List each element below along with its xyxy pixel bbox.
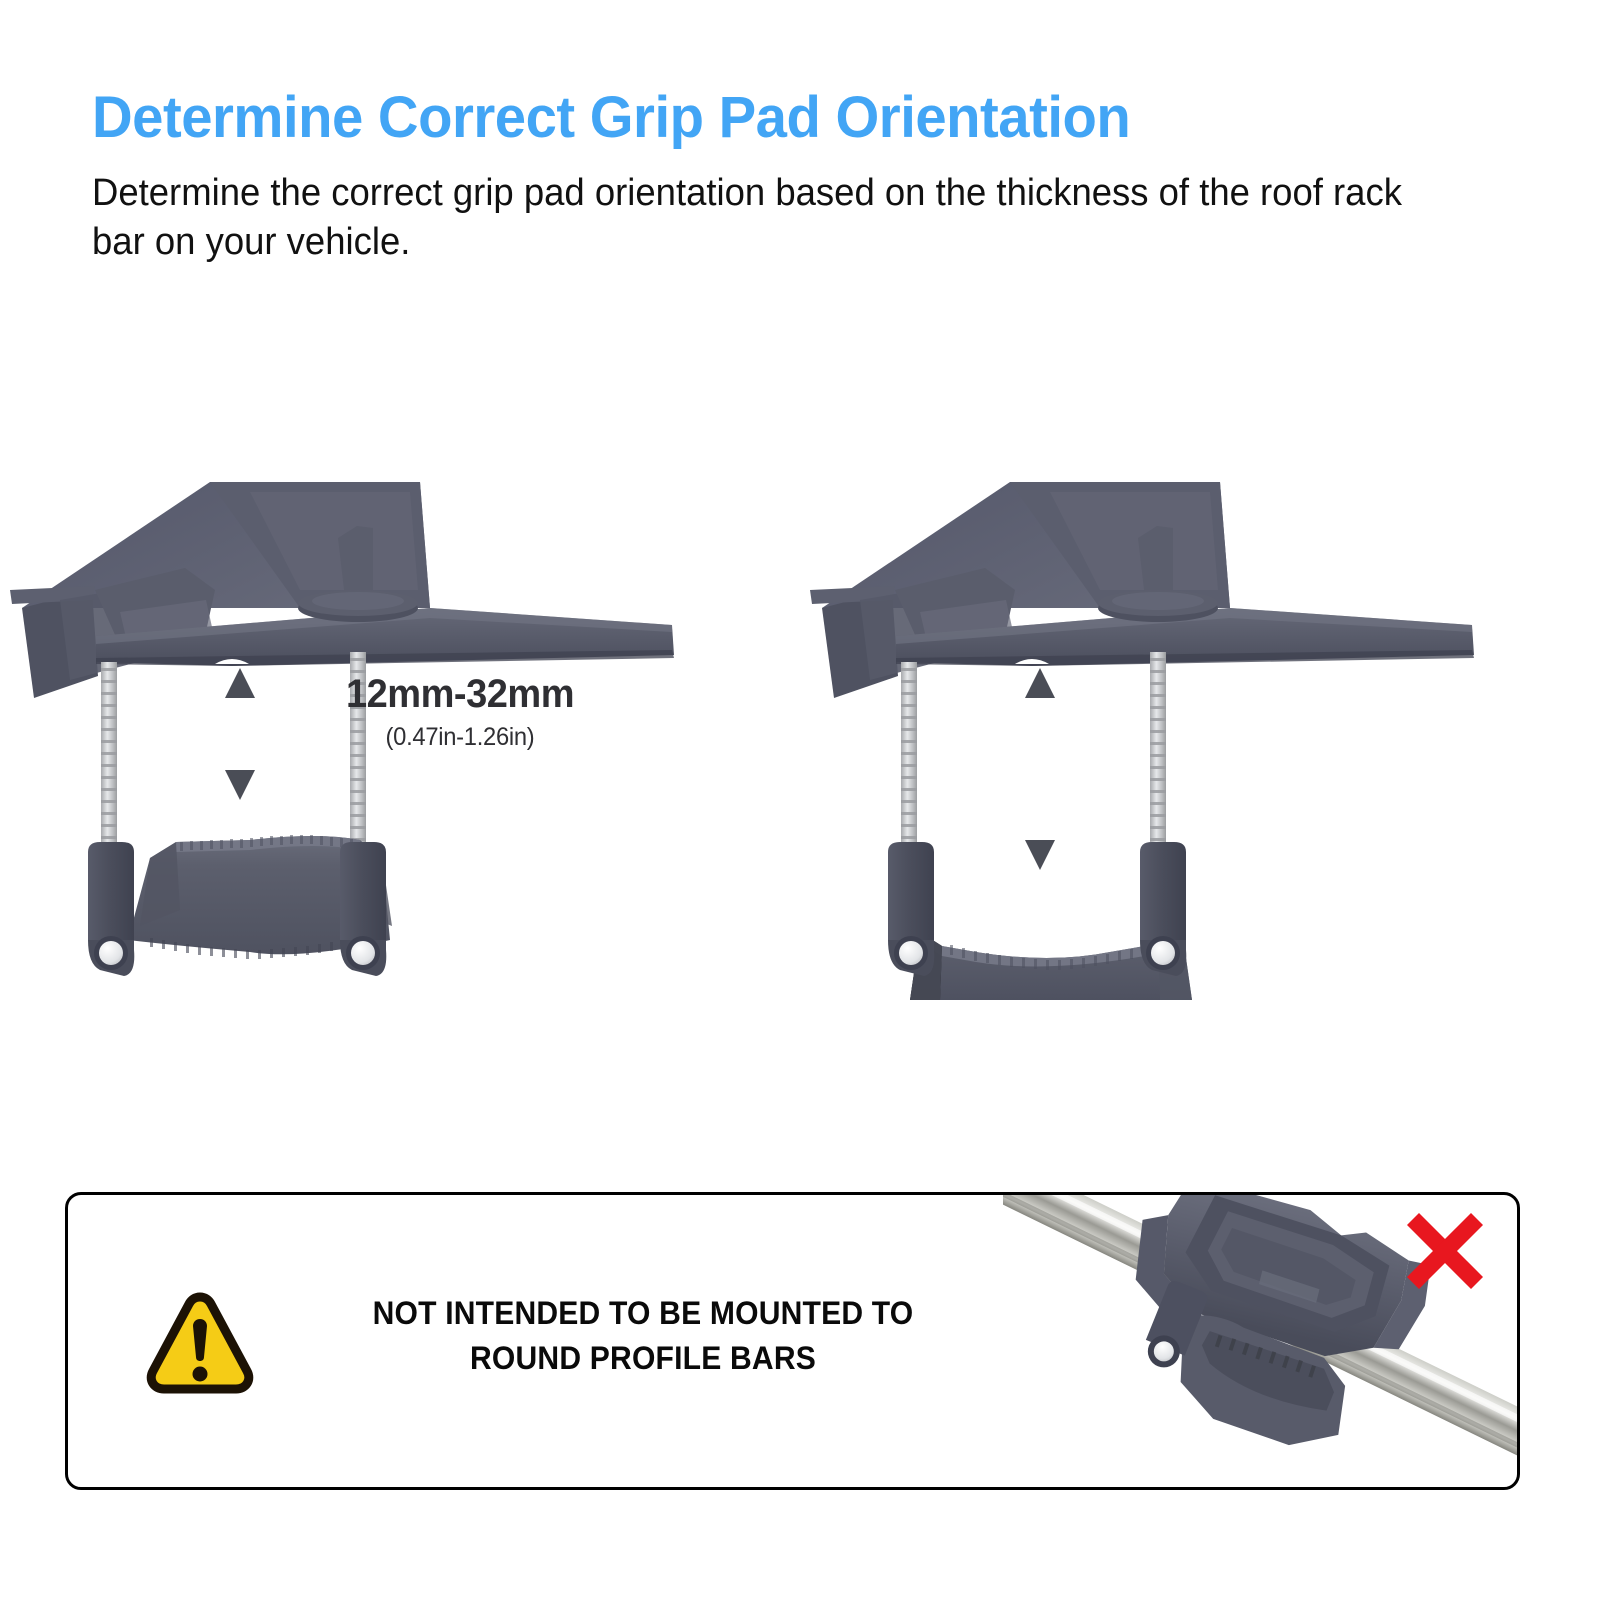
up-arrow-icon bbox=[225, 668, 255, 698]
down-arrow-icon bbox=[225, 770, 255, 800]
red-x-icon bbox=[1401, 1207, 1489, 1295]
threaded-screw-right bbox=[1150, 652, 1166, 856]
side-post-right bbox=[1140, 842, 1186, 976]
diagram-stage: 12mm-32mm (0.47in-1.26in) bbox=[0, 440, 1600, 1000]
side-post-right bbox=[340, 842, 386, 976]
side-post-left bbox=[88, 842, 134, 976]
down-arrow-icon bbox=[1025, 840, 1055, 870]
threaded-screw-right bbox=[350, 652, 366, 856]
warning-message: NOT INTENDED TO BE MOUNTED TO ROUND PROF… bbox=[295, 1291, 991, 1382]
warning-panel: NOT INTENDED TO BE MOUNTED TO ROUND PROF… bbox=[65, 1192, 1520, 1490]
header-block: Determine Correct Grip Pad Orientation D… bbox=[92, 88, 1512, 266]
page-subtitle: Determine the correct grip pad orientati… bbox=[92, 169, 1436, 266]
page-title: Determine Correct Grip Pad Orientation bbox=[92, 88, 1469, 149]
warning-triangle-icon bbox=[146, 1291, 254, 1395]
side-post-left bbox=[888, 842, 934, 976]
threaded-screw-left bbox=[901, 662, 917, 856]
clamp-assembly-thick-bar: 28mm-48mm (1.10in-1.89in) bbox=[800, 440, 1600, 1000]
threaded-screw-left bbox=[101, 662, 117, 856]
warning-line-2: ROUND PROFILE BARS bbox=[295, 1336, 991, 1381]
up-arrow-icon bbox=[1025, 668, 1055, 698]
warning-line-1: NOT INTENDED TO BE MOUNTED TO bbox=[295, 1291, 991, 1336]
clamp-assembly-thin-bar: 12mm-32mm (0.47in-1.26in) bbox=[0, 440, 800, 1000]
